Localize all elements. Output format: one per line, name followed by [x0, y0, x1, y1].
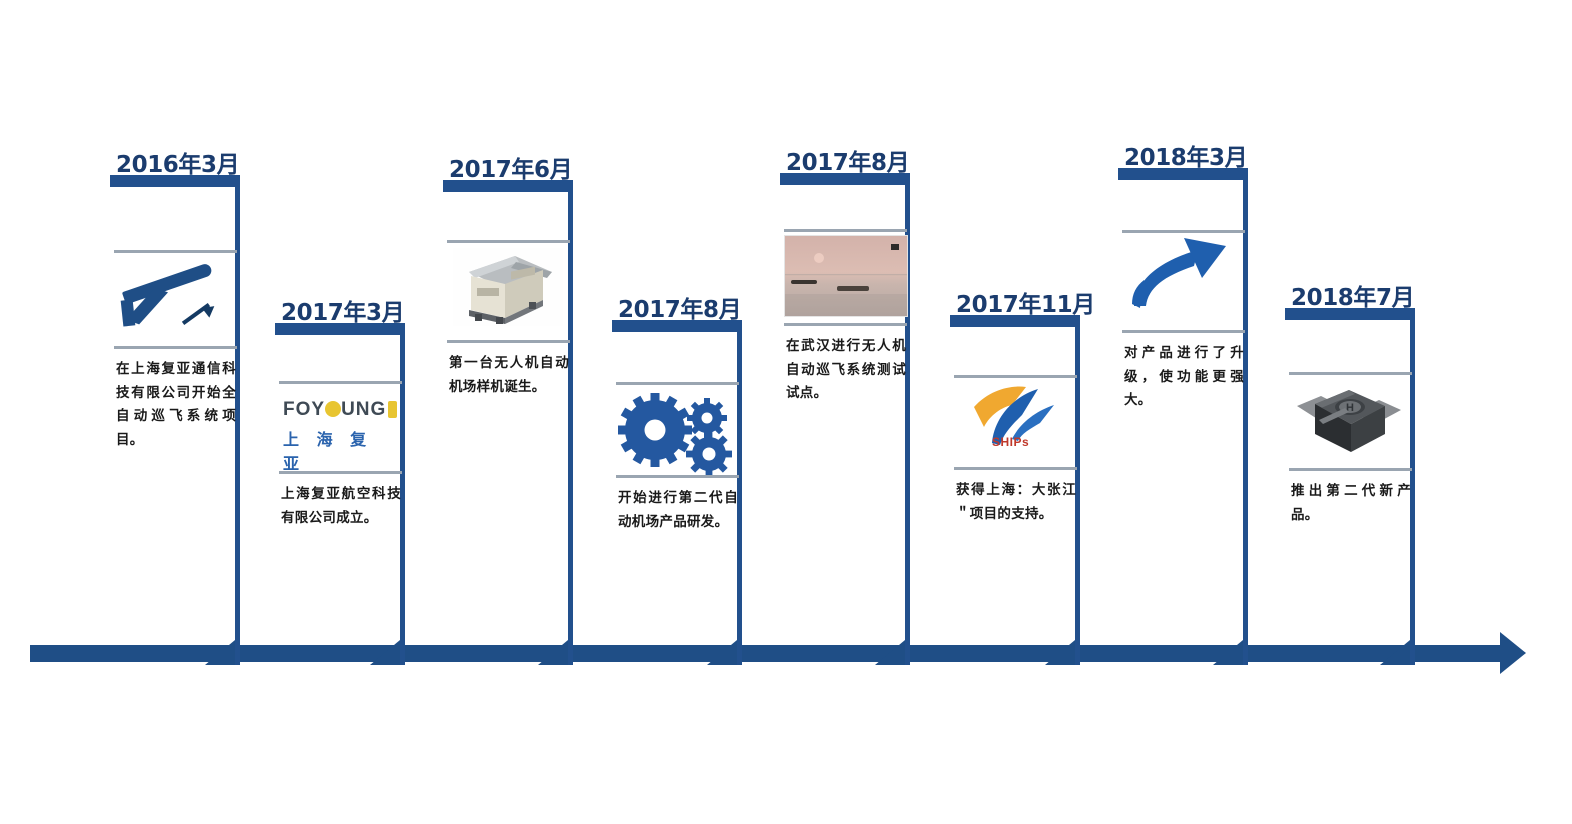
card-top-bar — [612, 320, 742, 332]
foyoung-en-first: FOY — [283, 399, 325, 420]
milestone-date: 2018年7月 — [1291, 278, 1414, 312]
card-divider-bottom — [447, 340, 570, 343]
card-stem — [1243, 168, 1248, 665]
timeline-axis-arrowhead — [1500, 632, 1526, 674]
card-stem-wedge — [1045, 640, 1075, 665]
card-divider-bottom — [954, 467, 1077, 470]
milestone-date: 2017年11月 — [956, 285, 1095, 319]
card-stem-wedge — [707, 640, 737, 665]
card-top-bar — [1285, 308, 1415, 320]
timeline-axis — [30, 645, 1508, 662]
drone-dock-illustration: H — [1293, 378, 1405, 458]
milestone-caption: 在武汉进行无人机自动巡飞系统测试试点。 — [786, 335, 906, 406]
foyoung-tail-mark-icon — [388, 401, 397, 418]
milestone-date: 2017年3月 — [281, 293, 404, 327]
drone-hangar-illustration — [453, 248, 563, 326]
foyoung-o-dot-icon — [325, 401, 341, 417]
drone-hangar-photo — [453, 248, 563, 326]
timeline-canvas: 2016年3月 在上海复亚通信科技有限公司开始全自动巡飞系统项目。 2017年3… — [0, 0, 1572, 824]
milestone-media — [618, 390, 733, 480]
card-divider-top — [784, 229, 907, 232]
card-divider-bottom — [616, 475, 739, 478]
drone-dock-helipad-photo: H — [1293, 378, 1405, 458]
milestone-date: 2017年6月 — [449, 150, 572, 184]
card-divider-top — [114, 250, 237, 253]
card-stem-wedge — [875, 640, 905, 665]
milestone-caption: 第一台无人机自动机场样机诞生。 — [449, 352, 569, 399]
card-divider-bottom — [114, 346, 237, 349]
foyoung-en-rest: UNG — [341, 399, 386, 420]
milestone-caption: 对产品进行了升级，使功能更强大。 — [1124, 342, 1244, 413]
card-divider-top — [1289, 372, 1412, 375]
card-divider-top — [1122, 230, 1245, 233]
wuhan-river-test-photo — [784, 235, 908, 317]
milestone-media — [784, 235, 908, 317]
milestone-media: FOYUNG 上 海 复 亚 — [283, 399, 405, 457]
milestone-caption: 在上海复亚通信科技有限公司开始全自动巡飞系统项目。 — [116, 358, 236, 453]
card-top-bar — [275, 323, 405, 335]
card-stem-wedge — [538, 640, 568, 665]
card-stem-wedge — [370, 640, 400, 665]
milestone-caption: 开始进行第二代自动机场产品研发。 — [618, 487, 738, 534]
milestone-media: H — [1293, 378, 1405, 458]
milestone-date: 2016年3月 — [116, 145, 239, 179]
card-top-bar — [950, 315, 1080, 327]
foyoung-cn-name: 上 海 复 亚 — [283, 426, 405, 474]
card-divider-bottom — [1289, 468, 1412, 471]
card-top-bar — [110, 175, 240, 187]
card-top-bar — [1118, 168, 1248, 180]
card-top-bar — [780, 173, 910, 185]
milestone-media: SHIPs — [960, 383, 1070, 455]
card-divider-bottom — [279, 471, 402, 474]
card-top-bar — [443, 180, 573, 192]
card-stem-wedge — [1213, 640, 1243, 665]
milestone-date: 2017年8月 — [618, 290, 741, 324]
card-divider-top — [954, 375, 1077, 378]
milestone-date: 2017年8月 — [786, 143, 909, 177]
card-divider-top — [279, 381, 402, 384]
card-stem-wedge — [1380, 640, 1410, 665]
card-divider-top — [447, 240, 570, 243]
card-divider-bottom — [1122, 330, 1245, 333]
foyoung-logo: FOYUNG 上 海 复 亚 — [283, 399, 405, 457]
card-divider-bottom — [784, 323, 907, 326]
gears-icon — [618, 390, 733, 480]
milestone-media — [453, 248, 563, 326]
airplane-takeoff-icon — [118, 270, 228, 340]
ships-wordmark: SHIPs — [992, 435, 1029, 449]
ships-logo: SHIPs — [960, 383, 1070, 455]
river-test-illustration — [785, 236, 907, 316]
milestone-media — [118, 270, 228, 340]
milestone-caption: 获得上海：大张江＂项目的支持。 — [956, 479, 1076, 526]
milestone-date: 2018年3月 — [1124, 138, 1247, 172]
upward-trend-arrow-icon — [1122, 236, 1240, 322]
trend-arrow-illustration — [1122, 236, 1240, 322]
card-stem — [568, 180, 573, 665]
milestone-media — [1122, 236, 1240, 322]
card-divider-top — [616, 382, 739, 385]
foyoung-wordmark: FOYUNG — [283, 399, 405, 421]
milestone-caption: 上海复亚航空科技有限公司成立。 — [281, 483, 401, 530]
milestone-caption: 推出第二代新产品。 — [1291, 480, 1411, 527]
gears-illustration — [618, 390, 733, 480]
card-stem-wedge — [205, 640, 235, 665]
